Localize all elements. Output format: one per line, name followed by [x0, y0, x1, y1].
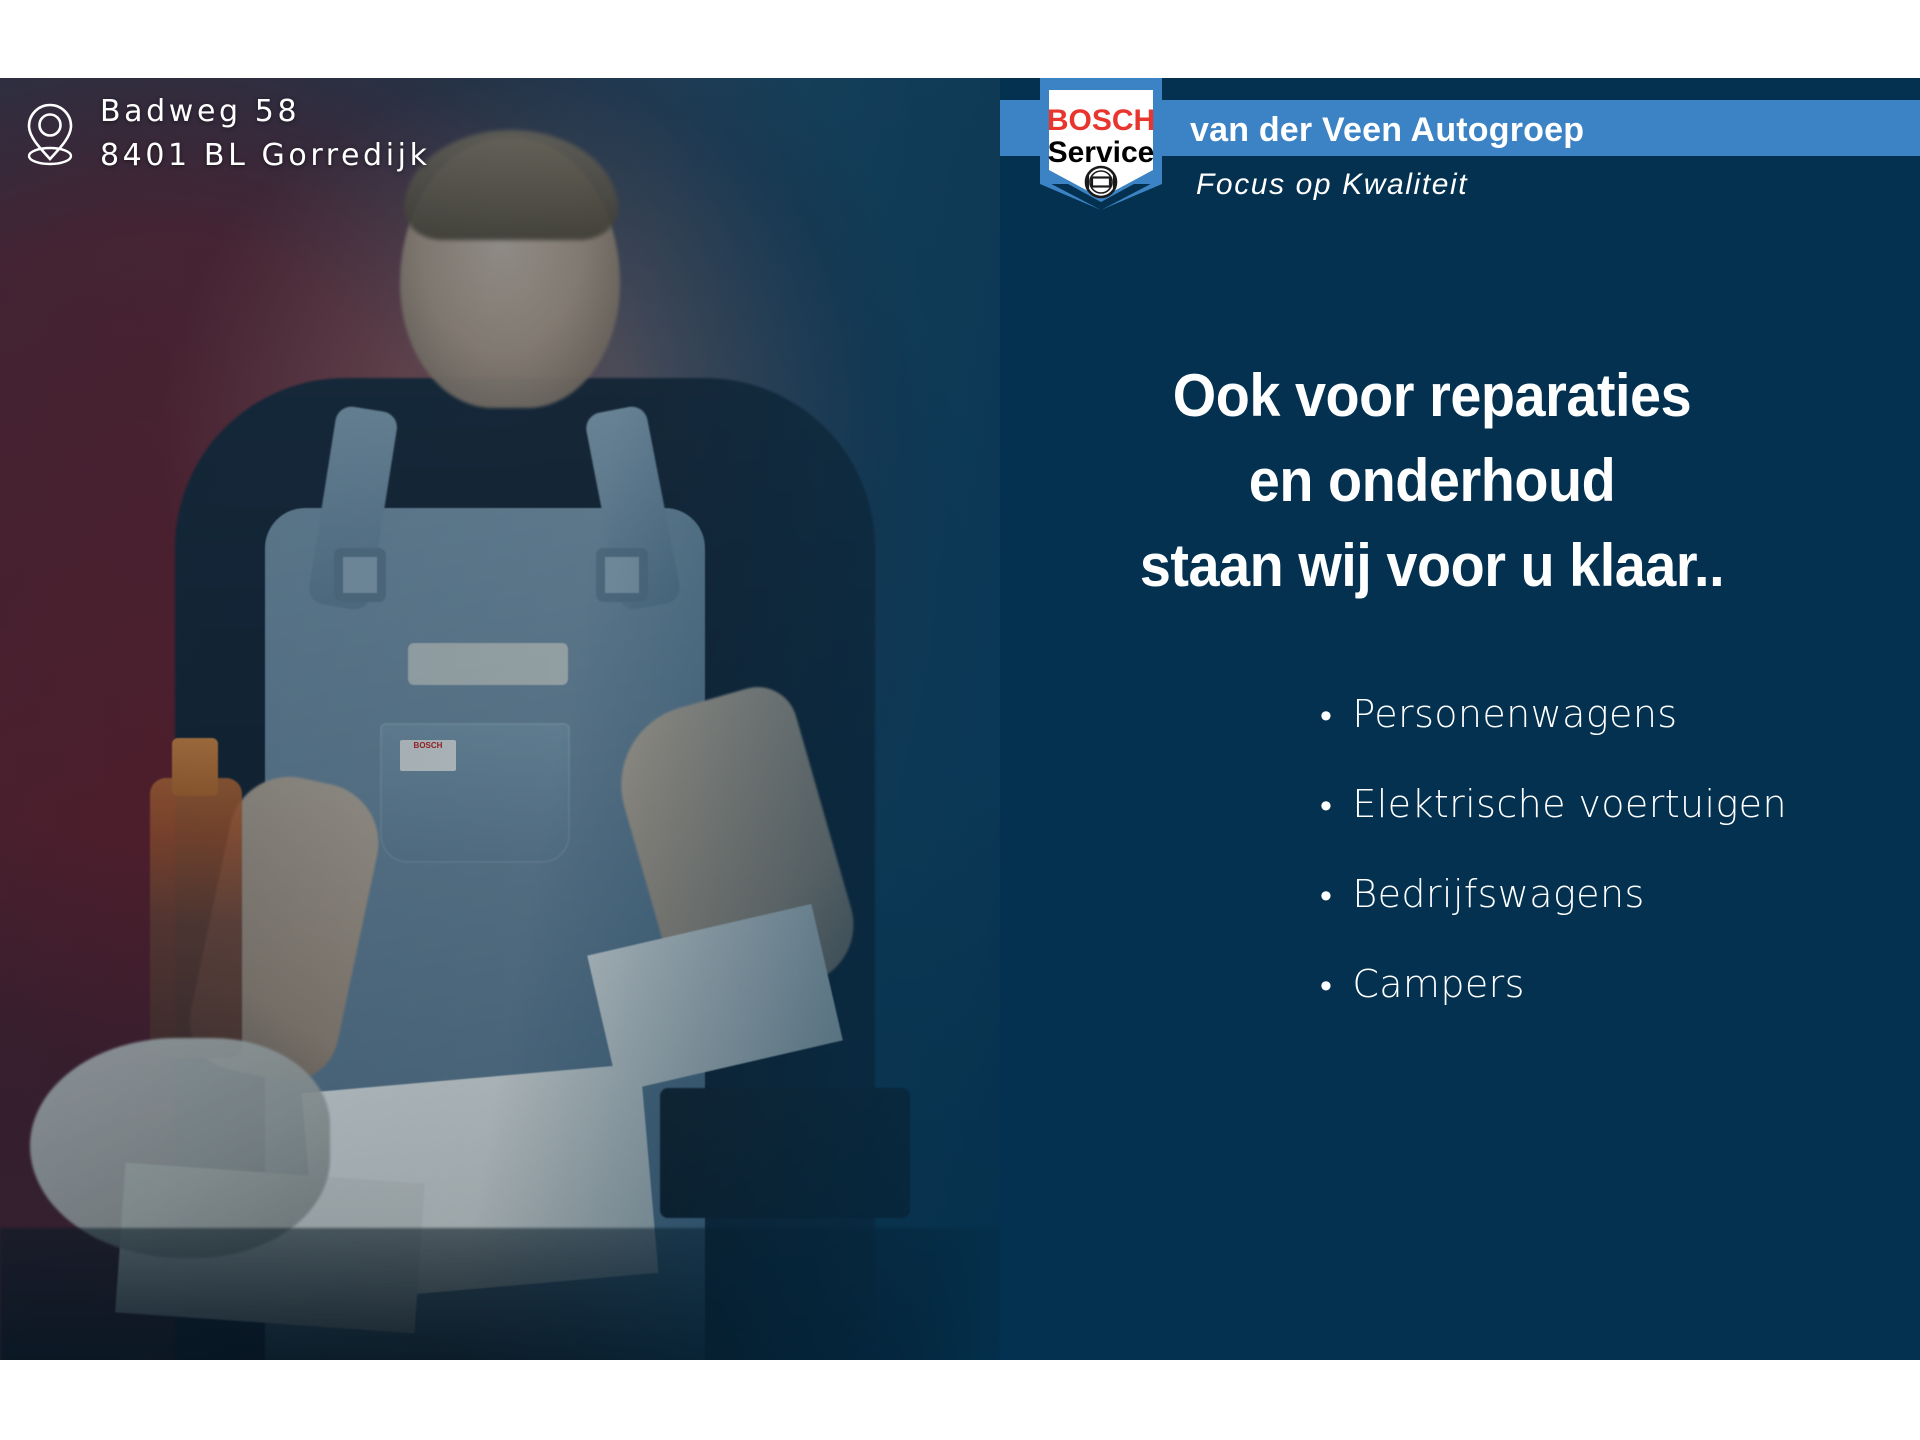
list-item: • Bedrijfswagens — [1000, 872, 1920, 916]
info-panel: BOSCH Service van der Veen Autogroep Foc… — [1000, 78, 1920, 1360]
address-text: Badweg 58 8401 BL Gorredijk — [100, 90, 431, 178]
headline-line-2: en onderhoud — [1030, 438, 1834, 523]
headline-line-1: Ook voor reparaties — [1030, 353, 1834, 438]
mechanic-photo-panel: BOSCH Badweg 58 8401 BL Gorredijk — [0, 78, 1000, 1360]
bosch-service-badge-icon: BOSCH Service — [1040, 78, 1162, 210]
map-pin-icon — [22, 101, 78, 167]
headline-line-3: staan wij voor u klaar.. — [1030, 523, 1834, 608]
promo-slide: BOSCH Badweg 58 8401 BL Gorredijk — [0, 78, 1920, 1360]
service-label: Personenwagens — [1352, 692, 1677, 736]
bullet-icon: • — [1320, 969, 1332, 1003]
address-street: Badweg 58 — [100, 90, 431, 134]
list-item: • Campers — [1000, 962, 1920, 1006]
address-city: 8401 BL Gorredijk — [100, 134, 431, 178]
brand-header: BOSCH Service van der Veen Autogroep Foc… — [1000, 78, 1920, 233]
list-item: • Elektrische voertuigen — [1000, 782, 1920, 826]
list-item: • Personenwagens — [1000, 692, 1920, 736]
service-label: Campers — [1352, 962, 1525, 1006]
svg-text:BOSCH: BOSCH — [1047, 104, 1155, 137]
bullet-icon: • — [1320, 699, 1332, 733]
bullet-icon: • — [1320, 789, 1332, 823]
photo-blue-tint-overlay — [0, 78, 1000, 1360]
svg-text:Service: Service — [1048, 136, 1155, 169]
services-list: • Personenwagens • Elektrische voertuige… — [1000, 692, 1920, 1006]
address-block: Badweg 58 8401 BL Gorredijk — [22, 90, 431, 178]
service-label: Bedrijfswagens — [1352, 872, 1644, 916]
service-label: Elektrische voertuigen — [1352, 782, 1787, 826]
headline: Ook voor reparaties en onderhoud staan w… — [1030, 353, 1834, 608]
bullet-icon: • — [1320, 879, 1332, 913]
company-name: van der Veen Autogroep — [1190, 108, 1584, 152]
company-tagline: Focus op Kwaliteit — [1196, 168, 1468, 202]
